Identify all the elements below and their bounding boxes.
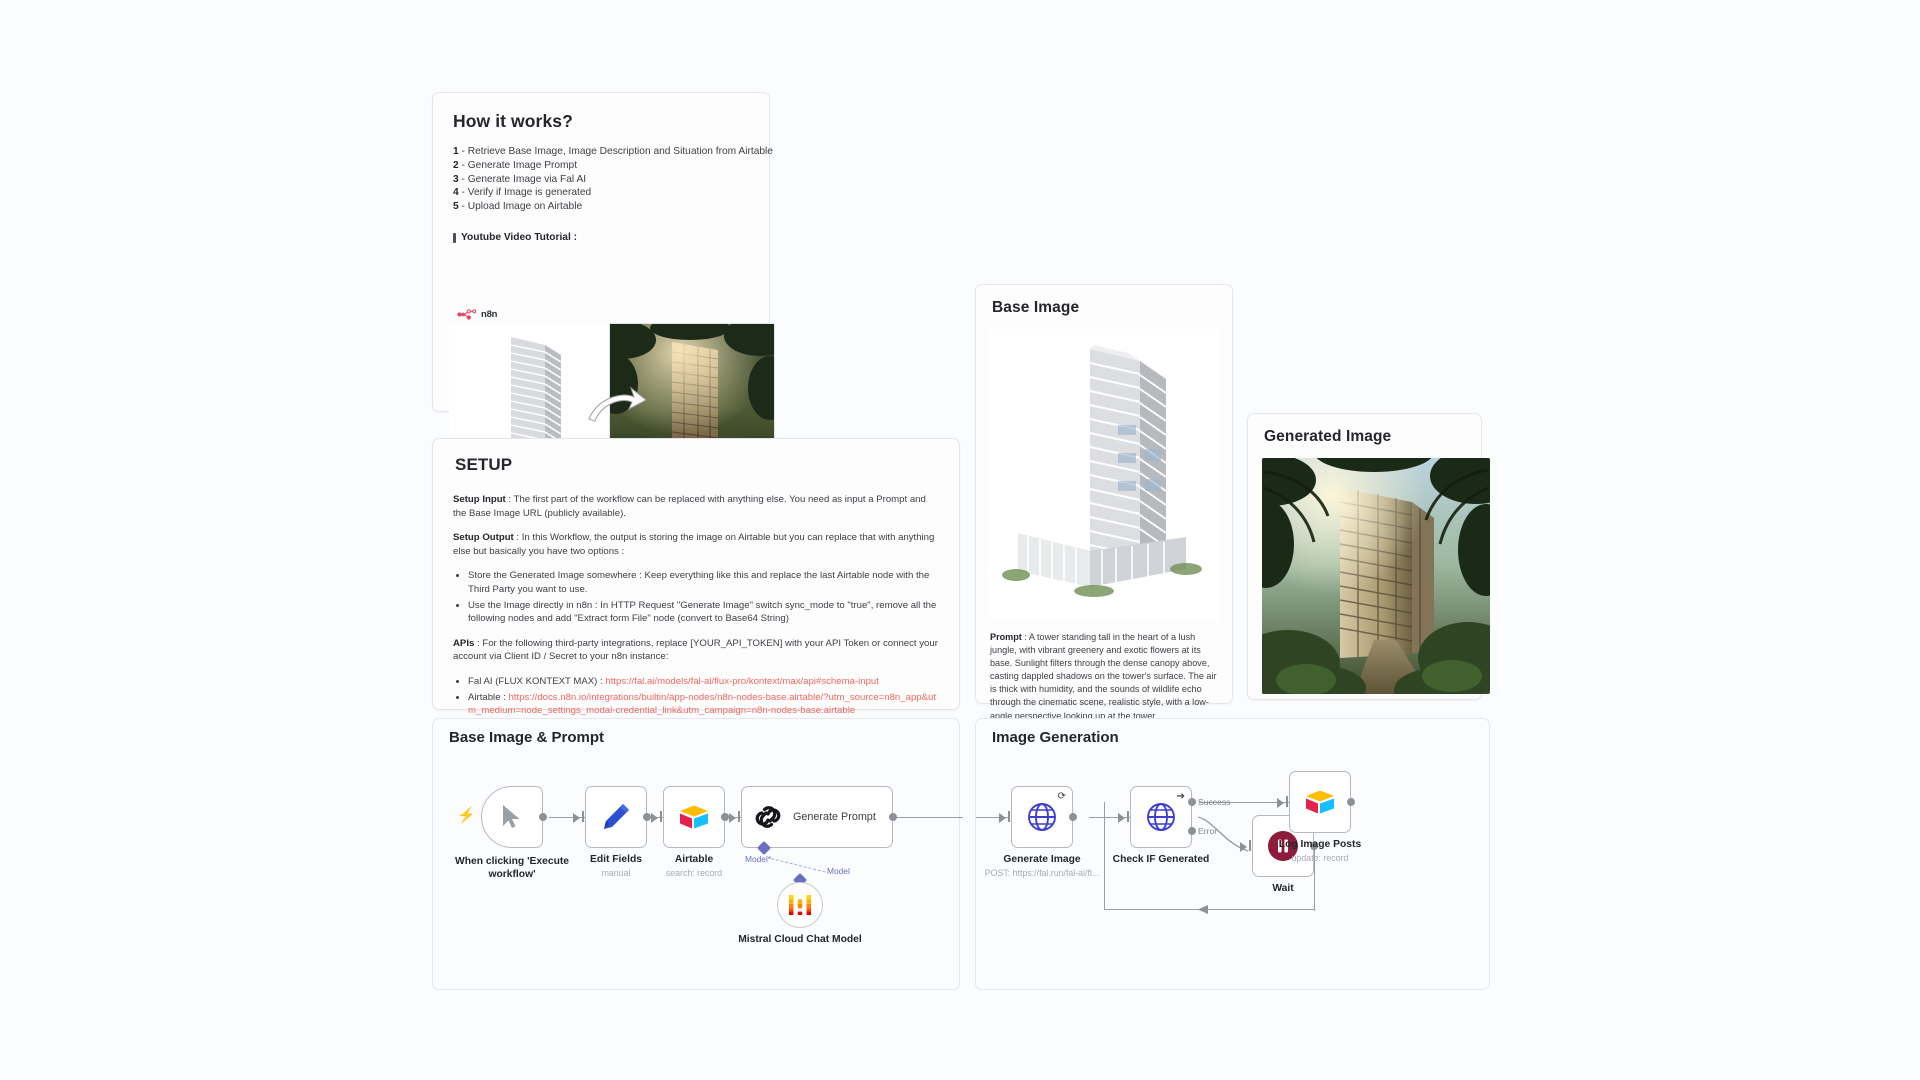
transform-arrow-icon bbox=[587, 385, 647, 425]
node-label: Check IF Generated bbox=[1091, 854, 1231, 867]
group-base-image-and-prompt[interactable]: Base Image & Prompt ⚡ When clicking 'Exe… bbox=[432, 718, 960, 990]
step-number: 4 bbox=[453, 187, 459, 198]
airtable-node-box[interactable] bbox=[663, 786, 725, 848]
node-label: Wait bbox=[1213, 883, 1353, 896]
step-text: - Generate Image Prompt bbox=[462, 160, 578, 171]
input-port[interactable] bbox=[738, 811, 740, 822]
node-label: Mistral Cloud Chat Model bbox=[730, 934, 870, 947]
setup-output-paragraph: Setup Output : In this Workflow, the out… bbox=[453, 531, 939, 558]
input-arrow-icon bbox=[573, 813, 580, 823]
white-tower-photo-icon bbox=[990, 329, 1220, 621]
airtable-icon bbox=[678, 803, 710, 831]
node-subtitle: update: record bbox=[1245, 853, 1395, 864]
api-name: Fal AI (FLUX KONTEXT MAX) : bbox=[468, 676, 605, 687]
output-port[interactable] bbox=[889, 813, 897, 821]
list-item: Fal AI (FLUX KONTEXT MAX) : https://fal.… bbox=[468, 675, 939, 689]
setup-output-label: Setup Output bbox=[453, 532, 514, 543]
how-it-works-title: How it works? bbox=[453, 111, 751, 132]
ai-connector-dashed-line bbox=[771, 858, 826, 873]
setup-options-list: Store the Generated Image somewhere : Ke… bbox=[453, 569, 939, 625]
generated-image-title: Generated Image bbox=[1264, 428, 1467, 446]
n8n-mark-icon bbox=[457, 309, 477, 320]
setup-api-list: Fal AI (FLUX KONTEXT MAX) : https://fal.… bbox=[453, 675, 939, 718]
setup-output-text: : In this Workflow, the output is storin… bbox=[453, 532, 934, 557]
list-item: Store the Generated Image somewhere : Ke… bbox=[468, 569, 939, 596]
pencil-edit-icon bbox=[601, 802, 631, 832]
chain-link-icon bbox=[754, 803, 782, 831]
input-arrow-icon bbox=[1118, 813, 1125, 823]
success-port-label: Success bbox=[1198, 797, 1230, 807]
step-number: 2 bbox=[453, 160, 459, 171]
output-port[interactable] bbox=[643, 813, 651, 821]
setup-input-paragraph: Setup Input : The first part of the work… bbox=[453, 493, 939, 520]
input-port[interactable] bbox=[1008, 811, 1010, 822]
cursor-arrow-icon bbox=[500, 804, 524, 830]
youtube-tutorial-label: Youtube Video Tutorial : bbox=[461, 232, 577, 243]
airtable-icon bbox=[1304, 788, 1336, 816]
output-port-success[interactable] bbox=[1188, 798, 1196, 806]
model-required-label: Model* bbox=[745, 854, 771, 864]
sticky-note-setup[interactable]: SETUP Setup Input : The first part of th… bbox=[432, 438, 960, 710]
base-image-title: Base Image bbox=[992, 299, 1218, 317]
input-arrow-icon bbox=[1277, 798, 1284, 808]
step-text: - Verify if Image is generated bbox=[462, 187, 592, 198]
group-image-generation[interactable]: Image Generation ⟳ bbox=[975, 718, 1490, 990]
log-image-posts-node-box[interactable] bbox=[1289, 771, 1351, 833]
edit-fields-node-box[interactable] bbox=[585, 786, 647, 848]
step-text: - Retrieve Base Image, Image Description… bbox=[462, 146, 773, 157]
node-check-if-generated[interactable]: ➔ Success Error Check IF Generated bbox=[1130, 786, 1192, 848]
node-mistral-cloud-chat-model[interactable]: Mistral Cloud Chat Model bbox=[777, 882, 823, 928]
workflow-canvas[interactable]: How it works? 1 - Retrieve Base Image, I… bbox=[0, 0, 1920, 1080]
mistral-node-box[interactable] bbox=[777, 882, 823, 928]
node-subtitle: POST: https://fal.run/fal-ai/fl... bbox=[957, 868, 1127, 879]
list-item: Airtable : https://docs.n8n.io/integrati… bbox=[468, 691, 939, 718]
step-number: 1 bbox=[453, 146, 459, 157]
api-link[interactable]: https://fal.ai/models/fal-ai/flux-pro/ko… bbox=[605, 676, 879, 687]
prompt-text: : A tower standing tall in the heart of … bbox=[990, 632, 1217, 721]
generated-image-preview bbox=[1262, 458, 1490, 694]
sticky-note-generated-image[interactable]: Generated Image bbox=[1247, 413, 1482, 700]
how-it-works-steps: 1 - Retrieve Base Image, Image Descripti… bbox=[453, 145, 751, 213]
sticky-note-how-it-works[interactable]: How it works? 1 - Retrieve Base Image, I… bbox=[432, 92, 770, 412]
node-airtable[interactable]: Airtable search: record bbox=[663, 786, 725, 848]
input-arrow-icon bbox=[729, 813, 736, 823]
jungle-tower-photo-icon bbox=[1262, 458, 1490, 694]
group-title-base-image-and-prompt: Base Image & Prompt bbox=[449, 729, 604, 746]
input-port[interactable] bbox=[660, 811, 662, 822]
youtube-tutorial-heading: Youtube Video Tutorial : bbox=[453, 232, 751, 243]
lightning-bolt-icon: ⚡ bbox=[457, 806, 476, 824]
base-image-preview bbox=[990, 329, 1220, 621]
sticky-note-base-image[interactable]: Base Image bbox=[975, 284, 1233, 704]
node-log-image-posts[interactable]: Log Image Posts update: record bbox=[1289, 771, 1351, 833]
video-thumbnail-card[interactable]: n8n bbox=[449, 309, 754, 395]
globe-http-icon bbox=[1027, 802, 1057, 832]
input-arrow-icon bbox=[999, 813, 1006, 823]
setup-input-text: : The first part of the workflow can be … bbox=[453, 494, 926, 519]
arrow-right-icon: ➔ bbox=[1177, 792, 1185, 802]
generate-prompt-inline-label: Generate Prompt bbox=[793, 811, 876, 823]
prompt-label: Prompt bbox=[990, 632, 1022, 642]
api-name: Airtable : bbox=[468, 692, 509, 703]
group-title-image-generation: Image Generation bbox=[992, 729, 1119, 746]
mistral-logo-icon bbox=[788, 894, 812, 916]
api-link[interactable]: https://docs.n8n.io/integrations/builtin… bbox=[468, 692, 936, 717]
loop-arrow-icon bbox=[1196, 904, 1210, 915]
input-port[interactable] bbox=[1286, 796, 1288, 807]
check-if-generated-node-box[interactable]: ➔ bbox=[1130, 786, 1192, 848]
setup-input-label: Setup Input bbox=[453, 494, 506, 505]
input-port[interactable] bbox=[1127, 811, 1129, 822]
step-text: - Generate Image via Fal AI bbox=[462, 174, 587, 185]
step-number: 3 bbox=[453, 174, 459, 185]
output-port[interactable] bbox=[1347, 798, 1355, 806]
setup-apis-paragraph: APIs : For the following third-party int… bbox=[453, 637, 939, 664]
retry-icon: ⟳ bbox=[1058, 792, 1066, 802]
step-number: 5 bbox=[453, 201, 459, 212]
input-arrow-icon bbox=[1240, 842, 1247, 852]
node-label: Airtable bbox=[624, 854, 764, 867]
node-generate-prompt[interactable]: Generate Prompt Model* Model bbox=[741, 786, 893, 848]
generate-image-node-box[interactable]: ⟳ bbox=[1011, 786, 1073, 848]
node-generate-image[interactable]: ⟳ Generate Image POST: https://fal.run/f… bbox=[1011, 786, 1073, 848]
input-arrow-icon bbox=[651, 813, 658, 823]
quote-bar-icon bbox=[453, 233, 456, 243]
globe-http-icon bbox=[1146, 802, 1176, 832]
n8n-wordmark: n8n bbox=[481, 309, 497, 320]
setup-title: SETUP bbox=[455, 455, 939, 475]
error-port-label: Error bbox=[1198, 826, 1217, 836]
list-item: Use the Image directly in n8n : In HTTP … bbox=[468, 599, 939, 626]
output-port[interactable] bbox=[1069, 813, 1077, 821]
generate-prompt-node-box[interactable]: Generate Prompt bbox=[741, 786, 893, 848]
node-when-clicking-execute-workflow[interactable]: ⚡ When clicking 'Execute workflow' bbox=[481, 786, 543, 848]
trigger-node-box[interactable] bbox=[481, 786, 543, 848]
input-port[interactable] bbox=[582, 811, 584, 822]
output-port[interactable] bbox=[539, 813, 547, 821]
output-port[interactable] bbox=[721, 813, 729, 821]
step-text: - Upload Image on Airtable bbox=[462, 201, 583, 212]
setup-apis-label: APIs bbox=[453, 638, 474, 649]
setup-apis-text: : For the following third-party integrat… bbox=[453, 638, 938, 663]
base-image-prompt: Prompt : A tower standing tall in the he… bbox=[990, 631, 1218, 723]
model-label: Model bbox=[827, 866, 850, 876]
node-subtitle: search: record bbox=[619, 868, 769, 879]
output-port-error[interactable] bbox=[1188, 827, 1196, 835]
n8n-logo: n8n bbox=[457, 309, 754, 320]
node-edit-fields[interactable]: Edit Fields manual bbox=[585, 786, 647, 848]
node-label: Log Image Posts bbox=[1250, 839, 1390, 852]
